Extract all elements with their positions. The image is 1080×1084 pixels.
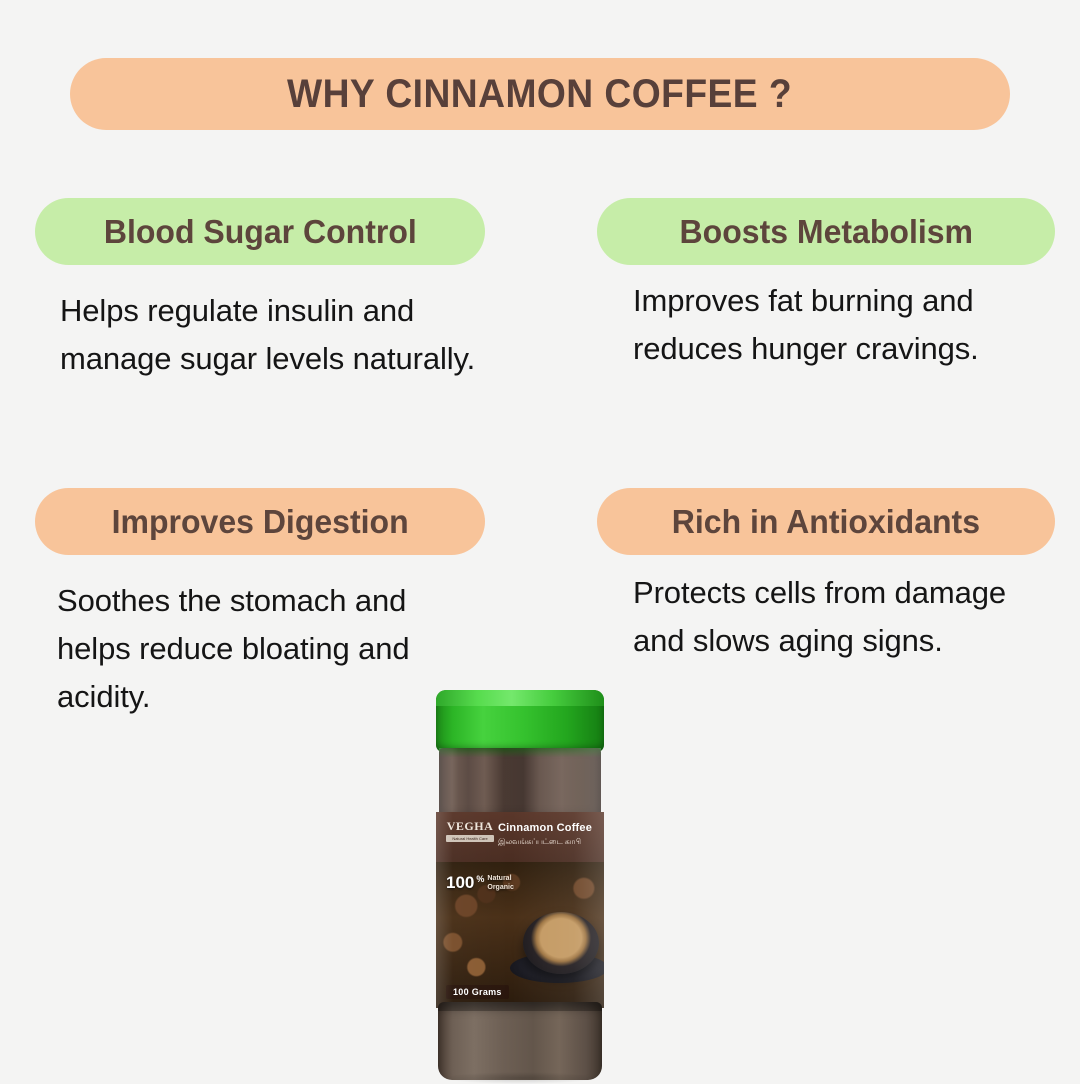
purity-badge: 100 % Natural Organic [446, 874, 514, 892]
jar-label-header-band: VEGHA Natural Health Care Products Cinna… [436, 812, 604, 862]
benefit-description: Improves fat burning and reduces hunger … [597, 277, 1053, 373]
benefit-description: Protects cells from damage and slows agi… [597, 569, 1053, 665]
benefit-pill-boosts-metabolism: Boosts Metabolism [597, 198, 1055, 265]
poster-canvas: WHY CINNAMON COFFEE ? Blood Sugar Contro… [0, 0, 1080, 1080]
jar-label: VEGHA Natural Health Care Products Cinna… [436, 812, 604, 1008]
benefit-card-blood-sugar-control: Blood Sugar Control Helps regulate insul… [35, 198, 535, 383]
jar-base-rim [438, 1002, 602, 1011]
jar-lid-top-surface [436, 690, 604, 706]
jar-drop-shadow [444, 1072, 596, 1084]
benefit-title: Rich in Antioxidants [672, 505, 980, 538]
benefit-pill-improves-digestion: Improves Digestion [35, 488, 485, 555]
header-pill: WHY CINNAMON COFFEE ? [70, 58, 1010, 130]
jar-lid [436, 690, 604, 752]
benefit-card-improves-digestion: Improves Digestion Soothes the stomach a… [35, 488, 535, 721]
benefit-description: Helps regulate insulin and manage sugar … [35, 287, 490, 383]
benefit-description: Soothes the stomach and helps reduce blo… [35, 577, 457, 721]
purity-word-natural: Natural [487, 875, 511, 882]
benefit-title: Boosts Metabolism [679, 215, 972, 248]
page-title: WHY CINNAMON COFFEE ? [287, 74, 792, 114]
purity-words: Natural Organic [487, 874, 513, 892]
product-jar-image: VEGHA Natural Health Care Products Cinna… [428, 690, 612, 1080]
purity-number: 100 [446, 874, 474, 891]
brand-tagline: Natural Health Care Products [446, 835, 494, 842]
benefit-pill-rich-in-antioxidants: Rich in Antioxidants [597, 488, 1055, 555]
net-weight-tag: 100 Grams [446, 985, 509, 999]
benefit-title: Improves Digestion [111, 505, 408, 538]
purity-word-organic: Organic [487, 884, 513, 891]
benefit-card-rich-in-antioxidants: Rich in Antioxidants Protects cells from… [597, 488, 1067, 665]
jar-base [438, 1002, 602, 1080]
product-name: Cinnamon Coffee [498, 822, 602, 834]
percent-sign: % [476, 875, 484, 884]
jar-powder-window [439, 748, 601, 816]
coffee-cup-icon [523, 912, 599, 974]
jar-label-photo: 100 % Natural Organic 100 Grams [436, 862, 604, 1008]
benefit-card-boosts-metabolism: Boosts Metabolism Improves fat burning a… [597, 198, 1067, 373]
product-name-tamil: இலவங்கப்பட்டை காபி [498, 837, 602, 847]
brand-name: VEGHA [446, 819, 494, 833]
benefit-title: Blood Sugar Control [104, 215, 417, 248]
brand-logo: VEGHA Natural Health Care Products [446, 819, 494, 853]
benefit-pill-blood-sugar-control: Blood Sugar Control [35, 198, 485, 265]
